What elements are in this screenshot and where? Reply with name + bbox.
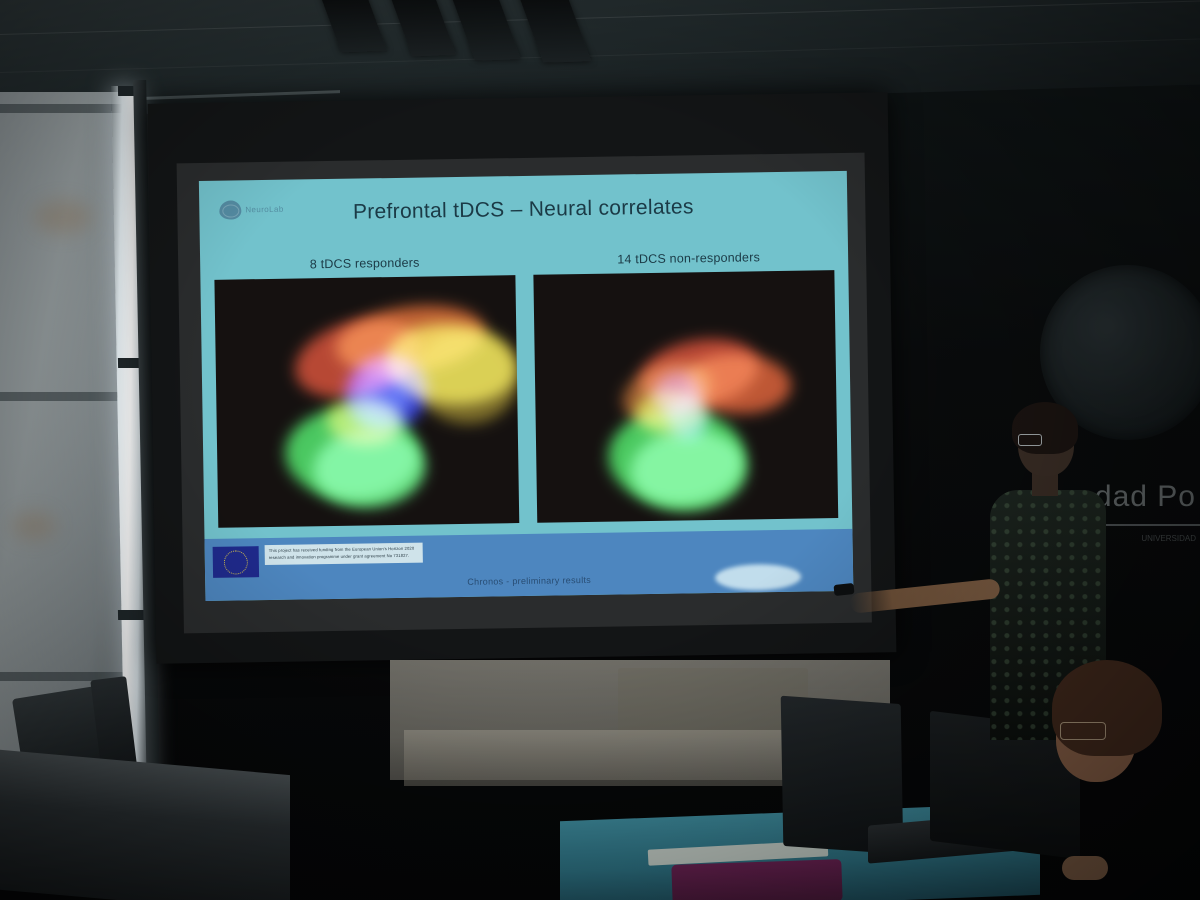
ceiling-light-panel <box>319 0 388 52</box>
slide-title: Prefrontal tDCS – Neural correlates <box>199 193 847 227</box>
panel-non-responders: 14 tDCS non-responders <box>533 249 838 523</box>
ceiling-light-panel <box>517 0 592 63</box>
screen-surface: NeuroLab Prefrontal tDCS – Neural correl… <box>177 153 872 634</box>
panel-responders: 8 tDCS responders <box>214 254 519 528</box>
conference-room-scene: dad Po UNIVERSIDAD NeuroLab Prefrontal t… <box>0 0 1200 900</box>
attendee-hand <box>1062 856 1108 880</box>
eu-flag-icon <box>213 546 259 578</box>
table <box>0 749 290 900</box>
ceiling-light-panel <box>388 0 457 56</box>
chair <box>618 668 808 738</box>
eu-funding-note: This project has received funding from t… <box>265 543 423 565</box>
projection-screen: NeuroLab Prefrontal tDCS – Neural correl… <box>148 92 897 664</box>
attendee-hair <box>1052 660 1162 756</box>
desk-bag <box>671 859 842 900</box>
presenter-clicker <box>833 583 854 596</box>
tractography-image-responders <box>214 275 519 528</box>
slide-footer-band: This project has received funding from t… <box>204 529 853 601</box>
panel-label-non-responders: 14 tDCS non-responders <box>543 249 834 268</box>
eu-stars-icon <box>224 550 248 574</box>
presentation-slide: NeuroLab Prefrontal tDCS – Neural correl… <box>199 171 854 601</box>
presenter-glasses <box>1018 434 1042 446</box>
presenter-hair <box>1012 402 1078 454</box>
attendee-body <box>1094 770 1200 900</box>
ceiling-light-panel <box>449 0 521 61</box>
wall-sign-subtext: UNIVERSIDAD <box>1141 534 1196 543</box>
panel-row: 8 tDCS responders 14 tDCS non-responders <box>214 249 838 528</box>
attendee-glasses <box>1060 722 1106 740</box>
tractography-image-non-responders <box>533 270 838 523</box>
seated-attendee <box>1010 660 1200 900</box>
panel-label-responders: 8 tDCS responders <box>214 254 515 273</box>
back-counter <box>404 730 824 786</box>
